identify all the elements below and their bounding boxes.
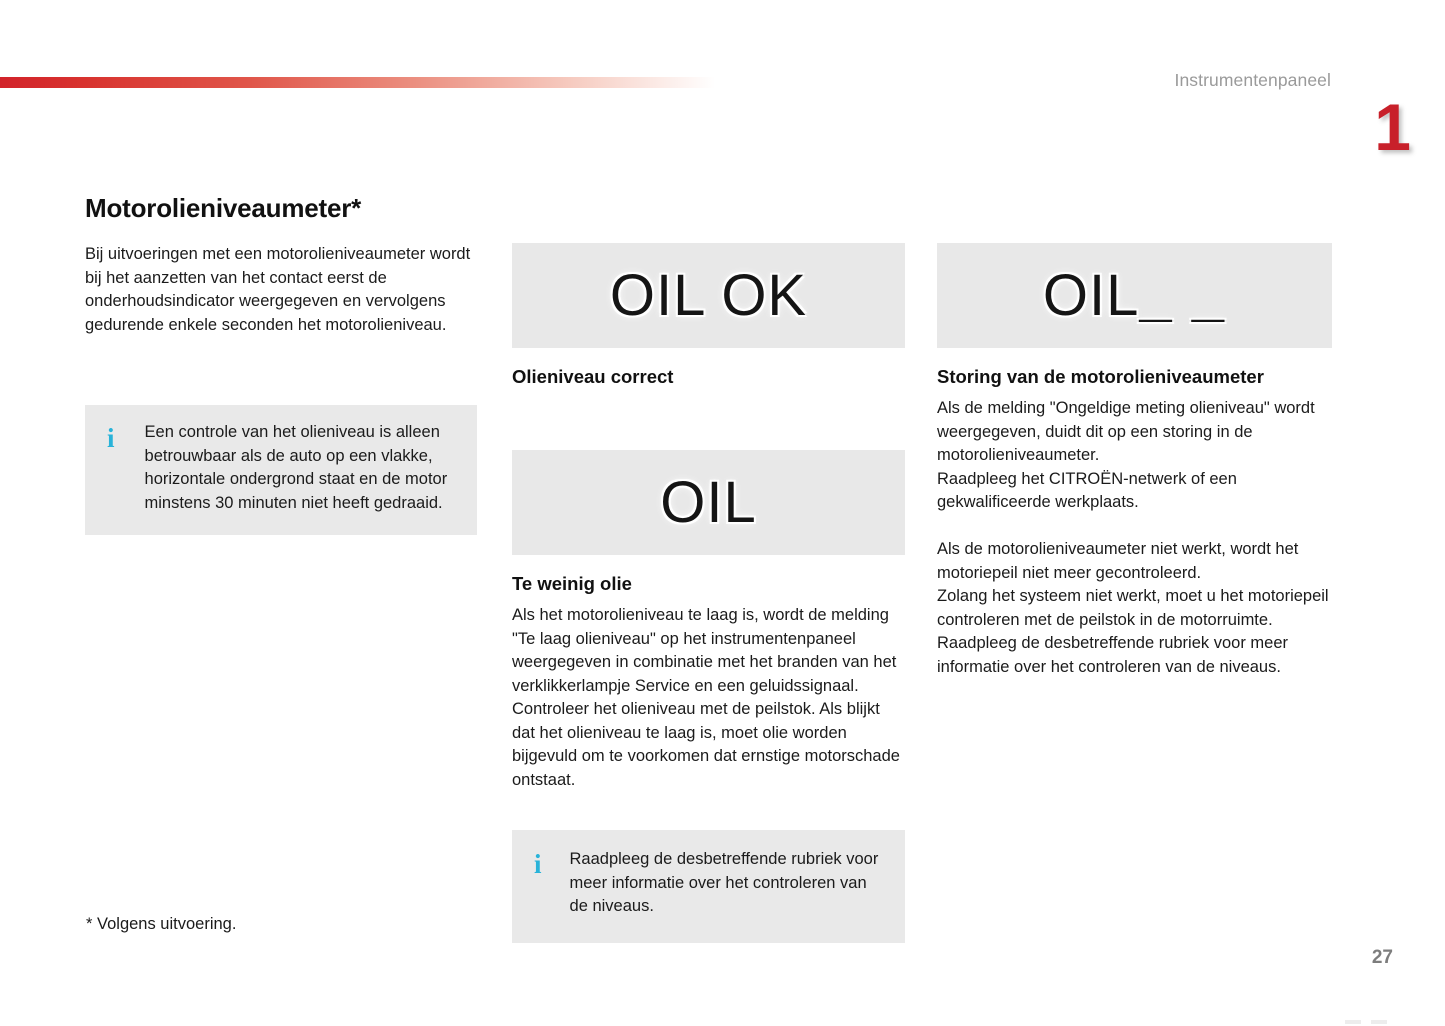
body-oil-gauge-fault: Als de melding "Ongeldige meting olieniv… [937, 397, 1332, 679]
display-oil-low: OIL [512, 450, 905, 555]
display-oil-fault-glyph: OIL_ _ [1043, 262, 1226, 329]
chapter-number-badge: 1 [1374, 94, 1411, 160]
page-title: Motorolieniveaumeter* [85, 193, 361, 224]
middle-column: OIL OK Olieniveau correct OIL Te weinig … [512, 243, 905, 792]
display-oil-fault-main: OIL [1043, 263, 1140, 328]
page-number: 27 [1372, 947, 1393, 969]
footnote: * Volgens uitvoering. [86, 915, 236, 934]
info-note-left: i Een controle van het olieniveau is all… [85, 405, 477, 535]
fault-paragraph-2: Als de motorolieniveaumeter niet werkt, … [937, 538, 1332, 679]
info-icon: i [534, 851, 542, 878]
heading-too-little-oil: Te weinig olie [512, 573, 905, 595]
display-oil-ok: OIL OK [512, 243, 905, 348]
intro-paragraph: Bij uitvoeringen met een motorolieniveau… [85, 243, 477, 337]
left-column: Bij uitvoeringen met een motorolieniveau… [85, 243, 477, 337]
info-icon: i [107, 425, 115, 452]
page-edge-mark [1345, 1020, 1387, 1024]
section-title: Instrumentenpaneel [1175, 70, 1332, 91]
display-oil-ok-glyph: OIL OK [610, 262, 807, 329]
info-note-left-text: Een controle van het olieniveau is allee… [145, 421, 459, 515]
right-column: OIL_ _ Storing van de motorolieniveaumet… [937, 243, 1332, 679]
display-oil-fault-dashes: _ _ [1139, 263, 1226, 328]
info-note-middle: i Raadpleeg de desbetreffende rubriek vo… [512, 830, 905, 943]
heading-oil-gauge-fault: Storing van de motorolieniveaumeter [937, 366, 1332, 388]
info-note-middle-text: Raadpleeg de desbetreffende rubriek voor… [570, 848, 887, 919]
header-accent-rule [0, 77, 715, 88]
fault-paragraph-1: Als de melding "Ongeldige meting olieniv… [937, 397, 1332, 515]
display-oil-low-glyph: OIL [660, 469, 757, 536]
display-oil-fault: OIL_ _ [937, 243, 1332, 348]
heading-oil-level-correct: Olieniveau correct [512, 366, 905, 388]
body-too-little-oil: Als het motorolieniveau te laag is, word… [512, 604, 905, 792]
